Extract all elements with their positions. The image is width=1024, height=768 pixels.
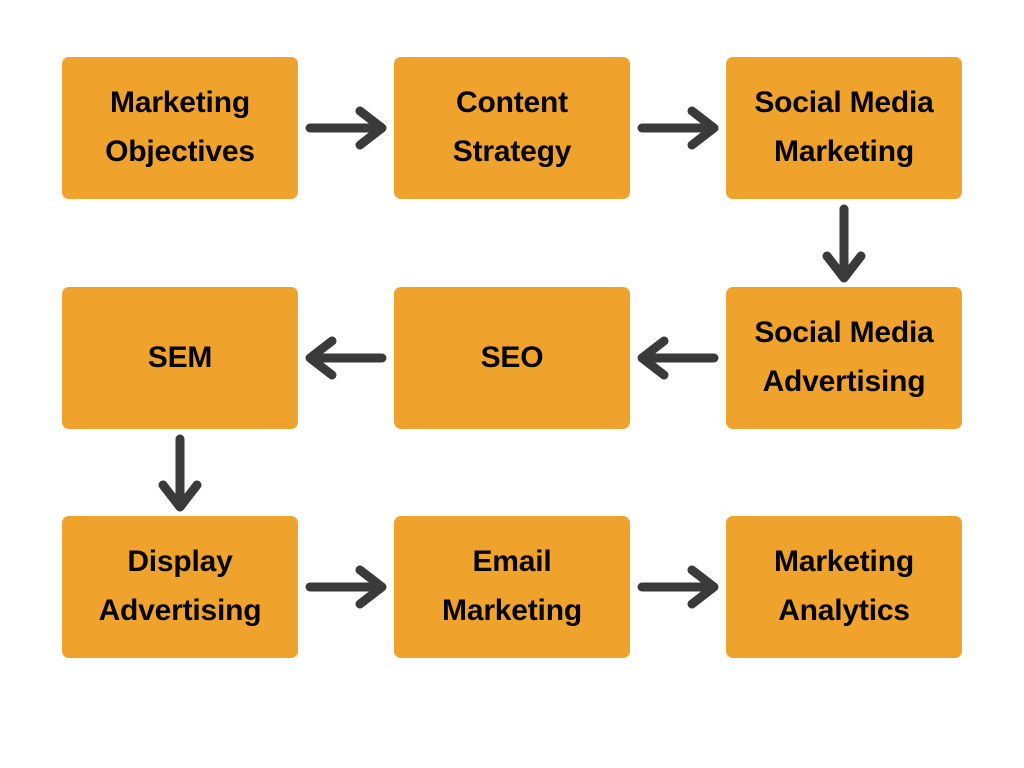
node-label-seo: SEO — [473, 334, 552, 383]
node-marketing-analytics[interactable]: Marketing Analytics — [726, 516, 962, 658]
node-marketing-objectives[interactable]: Marketing Objectives — [62, 57, 298, 199]
node-email-marketing[interactable]: Email Marketing — [394, 516, 630, 658]
node-label-email-marketing: Email Marketing — [434, 538, 590, 635]
arrow-objectives-to-content — [310, 111, 382, 145]
arrow-content-to-social-media-marketing — [642, 111, 714, 145]
node-label-social-media-advertising: Social Media Advertising — [746, 309, 941, 406]
node-seo[interactable]: SEO — [394, 287, 630, 429]
arrow-email-to-marketing-analytics — [642, 570, 714, 604]
node-sem[interactable]: SEM — [62, 287, 298, 429]
flowchart-canvas: Marketing Objectives Content Strategy So… — [0, 0, 1024, 768]
arrow-display-advertising-to-email — [310, 570, 382, 604]
node-social-media-marketing[interactable]: Social Media Marketing — [726, 57, 962, 199]
node-content-strategy[interactable]: Content Strategy — [394, 57, 630, 199]
node-label-marketing-analytics: Marketing Analytics — [766, 538, 922, 635]
node-label-social-media-marketing: Social Media Marketing — [746, 79, 941, 176]
node-label-marketing-objectives: Marketing Objectives — [97, 79, 263, 176]
arrow-sem-to-display-advertising — [163, 439, 197, 507]
node-label-display-advertising: Display Advertising — [91, 538, 270, 635]
arrow-social-media-advertising-to-seo — [642, 341, 714, 375]
arrow-seo-to-sem — [310, 341, 382, 375]
arrow-social-media-marketing-to-advertising — [827, 209, 861, 278]
node-label-content-strategy: Content Strategy — [445, 79, 579, 176]
node-display-advertising[interactable]: Display Advertising — [62, 516, 298, 658]
node-label-sem: SEM — [140, 334, 220, 383]
node-social-media-advertising[interactable]: Social Media Advertising — [726, 287, 962, 429]
